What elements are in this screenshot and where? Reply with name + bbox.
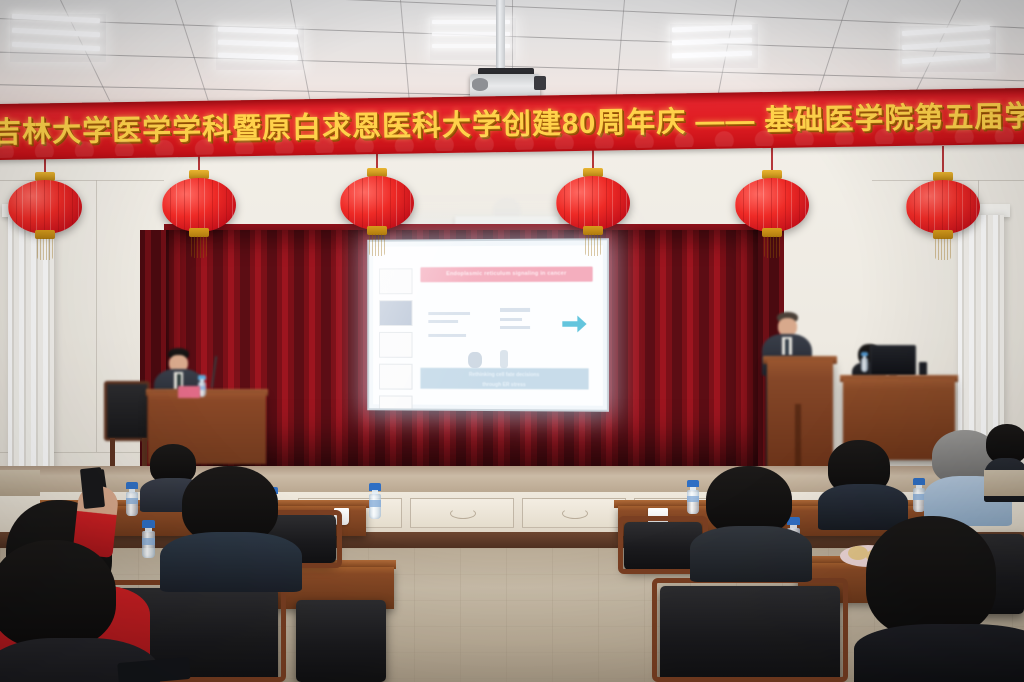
banner-text: 吉林大学医学学科暨原白求恩医科大学创建80周年庆 —— 基础医学院第五届学术活动… [0,93,1024,151]
ceiling-light-panel [670,24,758,68]
audience-chair [296,600,386,682]
ceiling-light-panel [216,26,304,70]
audience-person-foreground [0,540,150,682]
slide-footer: Rethinking cell fate decisions through E… [420,368,588,390]
audience-person [690,466,812,578]
water-bottle [369,483,381,519]
ceiling-light-panel [900,26,996,72]
conference-hall-photo: Endoplasmic reticulum signaling in cance… [0,0,1024,682]
ceiling-light-panel [10,14,106,62]
stage-panel-motif [450,508,476,519]
stage-side-left [0,470,40,496]
stage-panel-motif [562,508,588,519]
projection-screen: Endoplasmic reticulum signaling in cance… [367,238,609,412]
projector-lens [472,78,488,91]
desk-speaker [919,362,927,376]
computer-monitor [870,345,916,376]
water-bottle [861,352,868,372]
audience-person [818,440,908,524]
audience-chair-frame [652,578,848,682]
audience-person-foreground-right [860,516,1024,682]
slide-title: Endoplasmic reticulum signaling in cance… [420,267,592,283]
projector-mount-pole [496,0,505,78]
name-card [178,386,200,398]
slide-thumbnail-rail [379,268,412,394]
stage-chair-left [104,381,150,441]
stage-side-right [984,470,1024,496]
slide-arrow-icon [562,314,586,334]
projector-knob [534,76,546,90]
audience-person [160,466,302,586]
mobile-phone-held[interactable] [80,467,105,509]
